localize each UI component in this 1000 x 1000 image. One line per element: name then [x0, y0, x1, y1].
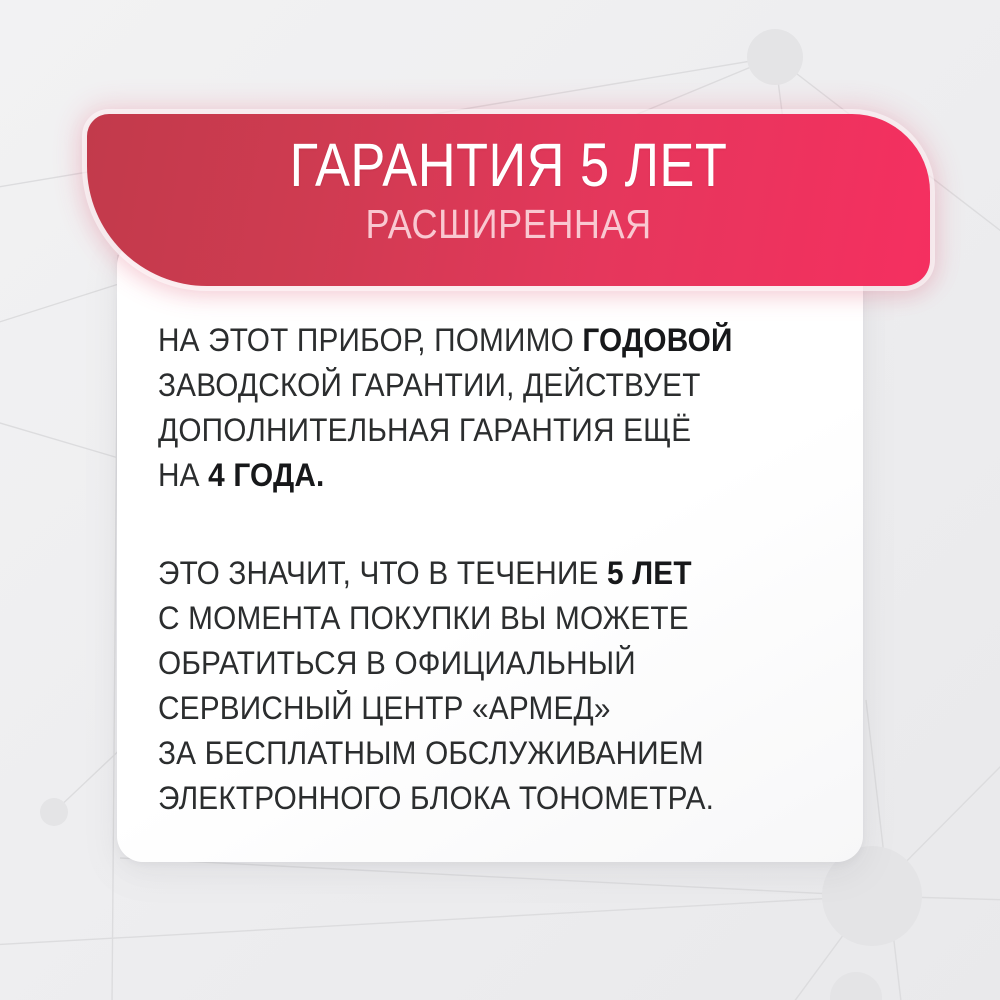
- body-text: ДОПОЛНИТЕЛЬНАЯ ГАРАНТИЯ ЕЩЁ: [158, 412, 691, 448]
- node-top-right: [747, 29, 803, 85]
- body-text: ЗА БЕСПЛАТНЫМ ОБСЛУЖИВАНИЕМ: [158, 735, 704, 771]
- paragraph-1-line-4: НА 4 ГОДА.: [158, 453, 809, 498]
- paragraph-2-line-6: ЭЛЕКТРОННОГО БЛОКА ТОНОМЕТРА.: [158, 776, 809, 821]
- paragraph-2-line-2: С МОМЕНТА ПОКУПКИ ВЫ МОЖЕТЕ: [158, 596, 809, 641]
- body-text: ЭЛЕКТРОННОГО БЛОКА ТОНОМЕТРА.: [158, 780, 714, 816]
- banner-subtitle: РАСШИРЕННАЯ: [365, 203, 651, 246]
- paragraph-2-line-5: ЗА БЕСПЛАТНЫМ ОБСЛУЖИВАНИЕМ: [158, 731, 809, 776]
- paragraph-spacer: [158, 498, 858, 551]
- card-body-text: НА ЭТОТ ПРИБОР, ПОМИМО ГОДОВОЙЗАВОДСКОЙ …: [158, 318, 858, 821]
- warranty-banner: ГАРАНТИЯ 5 ЛЕТ РАСШИРЕННАЯ: [87, 114, 930, 286]
- paragraph-1-line-3: ДОПОЛНИТЕЛЬНАЯ ГАРАНТИЯ ЕЩЁ: [158, 408, 809, 453]
- body-text: НА: [158, 457, 208, 493]
- body-text: НА ЭТОТ ПРИБОР, ПОМИМО: [158, 322, 582, 358]
- body-text: ОБРАТИТЬСЯ В ОФИЦИАЛЬНЫЙ: [158, 645, 636, 681]
- body-text: СЕРВИСНЫЙ ЦЕНТР «АРМЕД»: [158, 690, 611, 726]
- node-left-low: [40, 798, 68, 826]
- paragraph-1: НА ЭТОТ ПРИБОР, ПОМИМО ГОДОВОЙЗАВОДСКОЙ …: [158, 318, 858, 498]
- banner-inner: ГАРАНТИЯ 5 ЛЕТ РАСШИРЕННАЯ: [87, 114, 930, 286]
- emphasis-text: 5 ЛЕТ: [607, 555, 692, 591]
- body-text: ЭТО ЗНАЧИТ, ЧТО В ТЕЧЕНИЕ: [158, 555, 607, 591]
- paragraph-2: ЭТО ЗНАЧИТ, ЧТО В ТЕЧЕНИЕ 5 ЛЕТС МОМЕНТА…: [158, 551, 858, 821]
- paragraph-2-line-3: ОБРАТИТЬСЯ В ОФИЦИАЛЬНЫЙ: [158, 641, 809, 686]
- paragraph-1-line-2: ЗАВОДСКОЙ ГАРАНТИИ, ДЕЙСТВУЕТ: [158, 363, 809, 408]
- emphasis-text: 4 ГОДА.: [208, 457, 324, 493]
- banner-title: ГАРАНТИЯ 5 ЛЕТ: [290, 134, 728, 197]
- body-text: С МОМЕНТА ПОКУПКИ ВЫ МОЖЕТЕ: [158, 600, 689, 636]
- emphasis-text: ГОДОВОЙ: [582, 322, 732, 358]
- poster-canvas: ГАРАНТИЯ 5 ЛЕТ РАСШИРЕННАЯ НА ЭТОТ ПРИБО…: [0, 0, 1000, 1000]
- body-text: ЗАВОДСКОЙ ГАРАНТИИ, ДЕЙСТВУЕТ: [158, 367, 701, 403]
- paragraph-1-line-1: НА ЭТОТ ПРИБОР, ПОМИМО ГОДОВОЙ: [158, 318, 809, 363]
- paragraph-2-line-4: СЕРВИСНЫЙ ЦЕНТР «АРМЕД»: [158, 686, 809, 731]
- paragraph-2-line-1: ЭТО ЗНАЧИТ, ЧТО В ТЕЧЕНИЕ 5 ЛЕТ: [158, 551, 809, 596]
